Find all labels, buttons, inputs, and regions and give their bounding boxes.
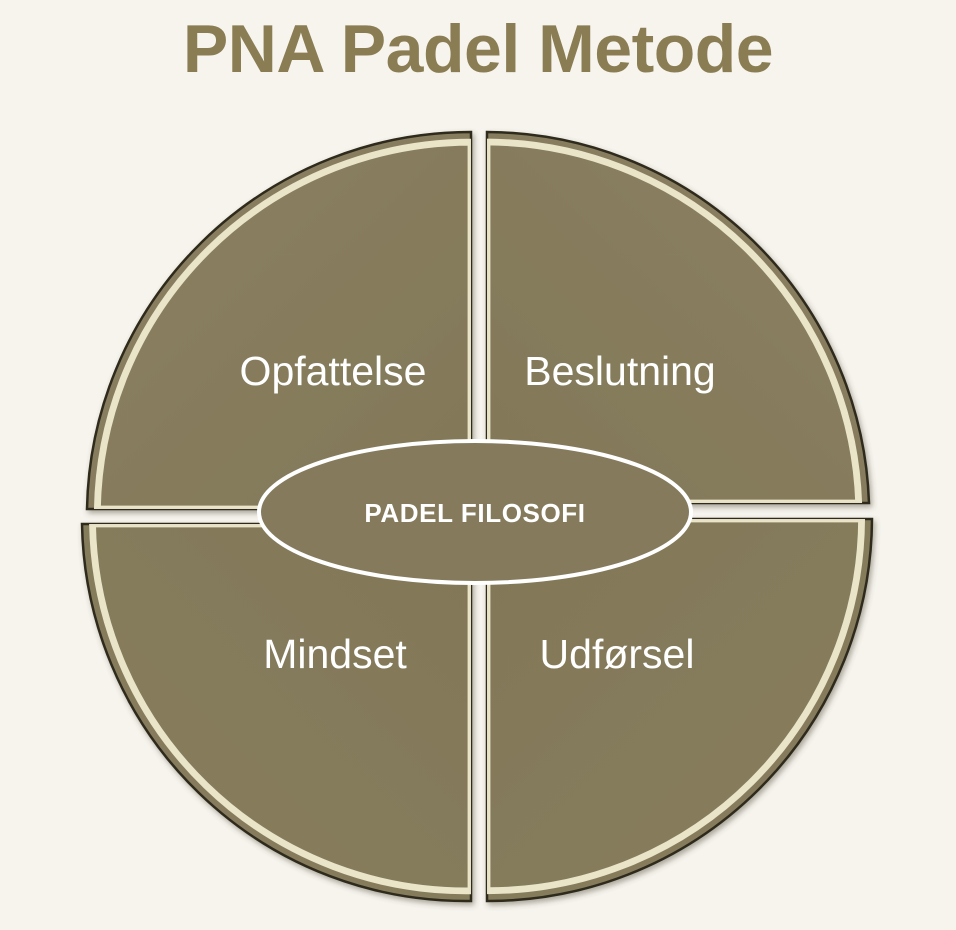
pna-padel-metode-diagram: Opfattelse Beslutning Mindset [0,0,956,930]
quadrant-bottom-right-label: Udførsel [540,631,695,677]
center-ellipse-label: PADEL FILOSOFI [364,498,585,528]
diagram-svg: Opfattelse Beslutning Mindset [0,0,956,930]
quadrant-bottom-left-label: Mindset [263,631,407,677]
center-ellipse[interactable]: PADEL FILOSOFI [259,441,691,583]
quadrant-top-right-label: Beslutning [524,348,715,394]
quadrant-top-left-label: Opfattelse [240,348,427,394]
page-root: PNA Padel Metode [0,0,956,930]
